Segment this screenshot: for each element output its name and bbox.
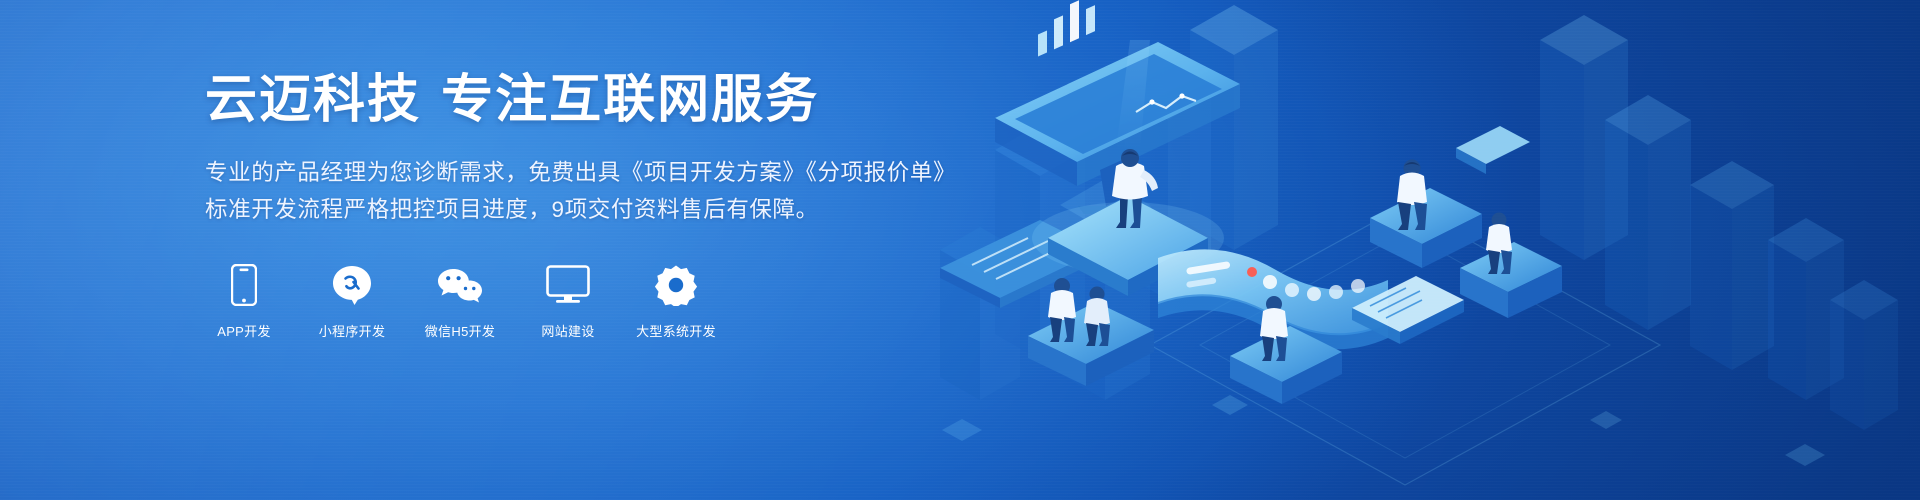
- wechat-icon: [436, 262, 484, 308]
- banner-content: 云迈科技 专注互联网服务 专业的产品经理为您诊断需求，免费出具《项目开发方案》《…: [205, 70, 965, 340]
- subtitle-line-2: 标准开发流程严格把控项目进度，9项交付资料售后有保障。: [205, 192, 965, 228]
- service-label: 网站建设: [541, 321, 594, 340]
- subtitle-line-1: 专业的产品经理为您诊断需求，免费出具《项目开发方案》《分项报价单》: [205, 155, 965, 191]
- service-item-wechat-h5[interactable]: 微信H5开发: [429, 262, 491, 340]
- service-label: 大型系统开发: [636, 321, 716, 340]
- illustration-artwork: [900, 0, 1920, 500]
- hero-banner: 云迈科技 专注互联网服务 专业的产品经理为您诊断需求，免费出具《项目开发方案》《…: [0, 0, 1920, 500]
- monitor-icon: [546, 262, 590, 308]
- service-item-mini-program[interactable]: 小程序开发: [321, 262, 383, 340]
- service-item-app[interactable]: APP开发: [213, 262, 275, 340]
- gear-icon: [655, 262, 697, 308]
- service-label: 微信H5开发: [425, 321, 495, 340]
- service-item-website[interactable]: 网站建设: [537, 262, 599, 340]
- mini-program-icon: [331, 262, 373, 308]
- service-label: 小程序开发: [319, 321, 386, 340]
- banner-subtitle: 专业的产品经理为您诊断需求，免费出具《项目开发方案》《分项报价单》 标准开发流程…: [205, 155, 965, 228]
- page-title: 云迈科技 专注互联网服务: [205, 70, 965, 131]
- service-label: APP开发: [217, 321, 271, 340]
- service-item-large-system[interactable]: 大型系统开发: [645, 262, 707, 340]
- mobile-phone-icon: [231, 262, 257, 308]
- service-list: APP开发 小程序开发: [205, 262, 965, 340]
